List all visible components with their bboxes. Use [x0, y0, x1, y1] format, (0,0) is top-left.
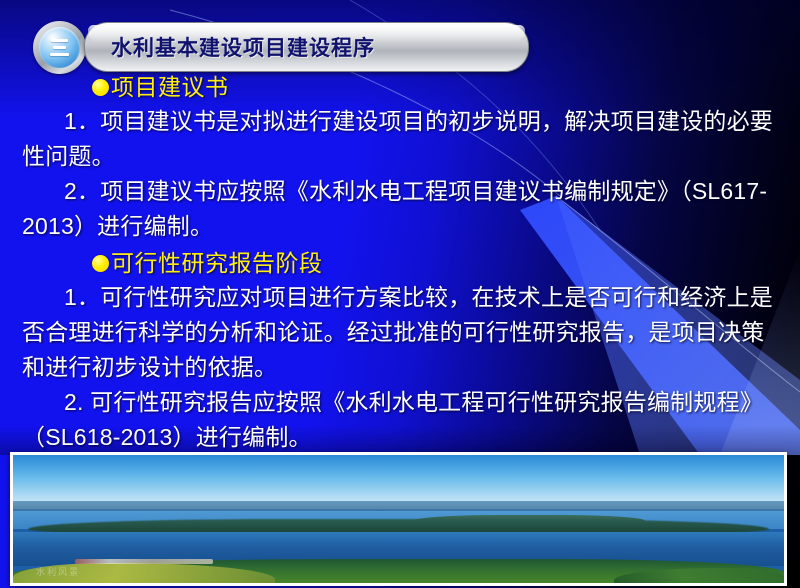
slide-photo-frame: 水利风景 — [10, 452, 787, 586]
badge-bar-bottom — [50, 53, 69, 56]
page-title: 水利基本建设项目建设程序 — [111, 32, 375, 62]
slide-body: 项目建议书 1．项目建议书是对拟进行建设项目的初步说明，解决项目建设的必要性问题… — [0, 72, 800, 455]
paragraph: 1．可行性研究应对项目进行方案比较，在技术上是否可行和经济上是否合理进行科学的分… — [0, 280, 800, 385]
yellow-dot-bullet-icon — [92, 255, 109, 272]
slide-canvas: 水利基本建设项目建设程序 项目建议书 1．项目建议书是对拟进行建设项目的初步说明… — [0, 0, 800, 588]
section-heading-label: 项目建议书 — [111, 72, 229, 102]
photo-shoreline-buildings — [75, 559, 214, 564]
section-heading-1: 项目建议书 — [0, 72, 800, 102]
three-bars-icon — [33, 21, 86, 74]
badge-bar-top — [51, 39, 68, 42]
slide-title-bar: 水利基本建设项目建设程序 — [84, 22, 529, 72]
yellow-dot-bullet-icon — [92, 79, 109, 96]
paragraph-text: 2．项目建议书应按照《水利水电工程项目建议书编制规定》（SL617-2013）进… — [22, 178, 767, 239]
section-heading-label: 可行性研究报告阶段 — [111, 248, 323, 278]
reservoir-lake-panorama-image: 水利风景 — [13, 455, 784, 583]
badge-inner-disc — [39, 27, 80, 68]
badge-bar-middle — [53, 46, 66, 49]
paragraph: 2．项目建议书应按照《水利水电工程项目建议书编制规定》（SL617-2013）进… — [0, 174, 800, 244]
photo-watermark: 水利风景 — [36, 565, 80, 578]
paragraph: 1．项目建议书是对拟进行建设项目的初步说明，解决项目建设的必要性问题。 — [0, 104, 800, 174]
paragraph-text: 1．可行性研究应对项目进行方案比较，在技术上是否可行和经济上是否合理进行科学的分… — [22, 284, 773, 380]
section-heading-2: 可行性研究报告阶段 — [0, 248, 800, 278]
paragraph-text: 2. 可行性研究报告应按照《水利水电工程可行性研究报告编制规程》（SL618-2… — [22, 389, 763, 450]
paragraph: 2. 可行性研究报告应按照《水利水电工程可行性研究报告编制规程》（SL618-2… — [0, 385, 800, 455]
paragraph-text: 1．项目建议书是对拟进行建设项目的初步说明，解决项目建设的必要性问题。 — [22, 108, 773, 169]
